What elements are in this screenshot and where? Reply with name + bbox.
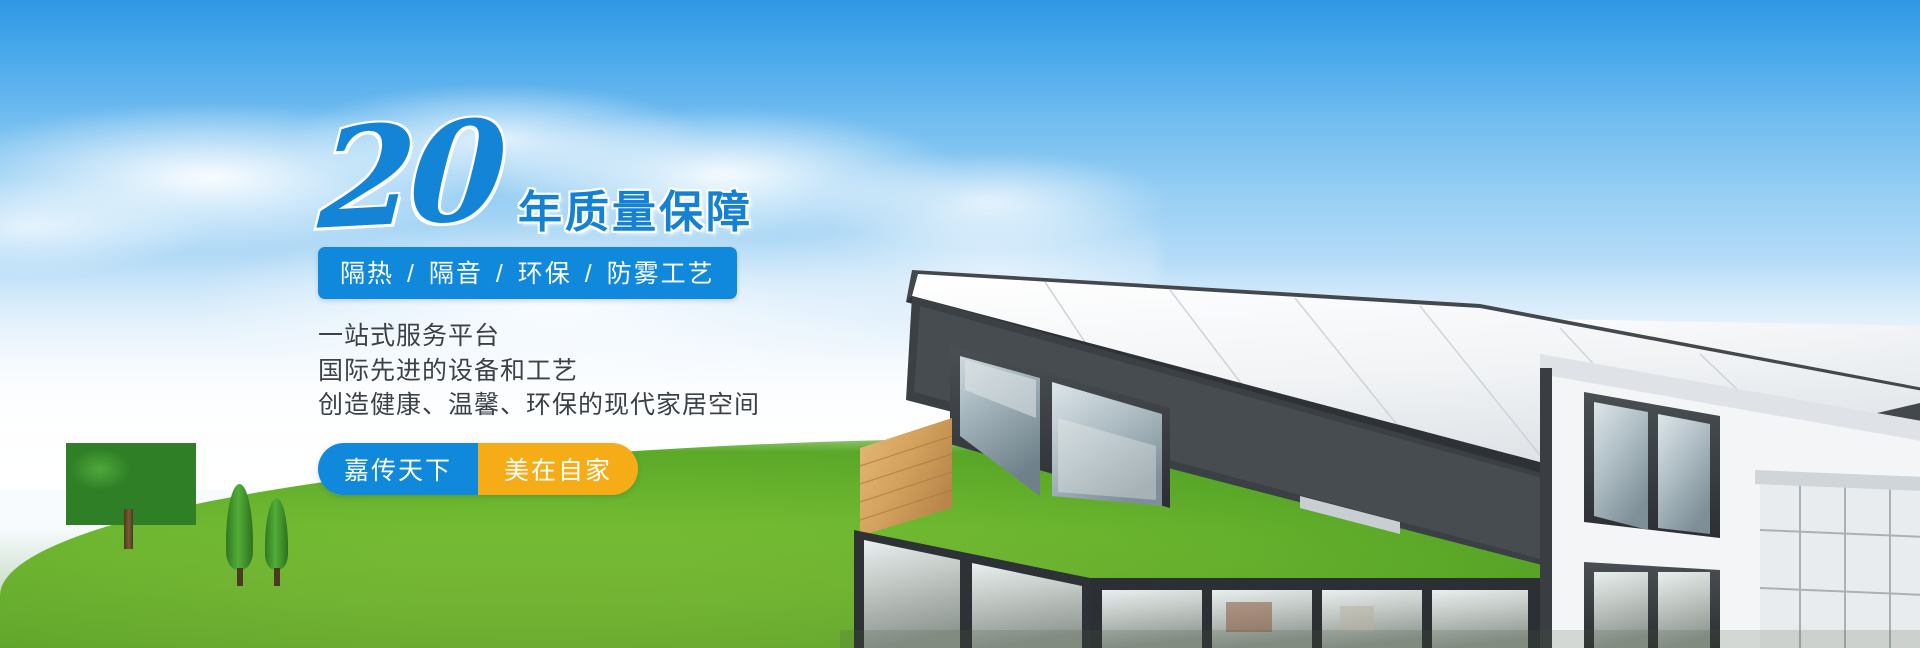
- cypress-foliage: [265, 498, 288, 570]
- slogan-pill[interactable]: 嘉传天下 美在自家: [318, 443, 638, 495]
- feature-separator: /: [492, 260, 509, 288]
- feature-item-3: 防雾工艺: [607, 260, 715, 288]
- headline-subtitle: 年质量保障: [518, 176, 753, 240]
- promo-banner: 20 年质量保障 隔热 / 隔音 / 环保 / 防雾工艺 一站式服务平台 国际先…: [0, 0, 1920, 648]
- banner-content: 20 年质量保障 隔热 / 隔音 / 环保 / 防雾工艺 一站式服务平台 国际先…: [318, 110, 938, 495]
- slogan-left[interactable]: 嘉传天下: [318, 443, 478, 495]
- description-block: 一站式服务平台 国际先进的设备和工艺 创造健康、温馨、环保的现代家居空间: [318, 319, 938, 423]
- cypress-tree-icon: [265, 498, 288, 570]
- cypress-trunk: [274, 568, 280, 586]
- tree-icon: [66, 443, 196, 553]
- description-line-2: 国际先进的设备和工艺: [318, 354, 938, 389]
- tree-trunk: [124, 509, 133, 549]
- feature-item-0: 隔热: [340, 260, 394, 288]
- feature-item-1: 隔音: [429, 260, 483, 288]
- slogan-right[interactable]: 美在自家: [478, 443, 638, 495]
- feature-separator: /: [581, 260, 598, 288]
- feature-separator: /: [403, 260, 420, 288]
- cypress-tree-icon: [226, 484, 253, 570]
- feature-item-2: 环保: [518, 260, 572, 288]
- description-line-3: 创造健康、温馨、环保的现代家居空间: [318, 388, 938, 423]
- sunroom-house-photo: [840, 178, 1920, 648]
- cypress-trunk: [237, 568, 243, 586]
- cypress-foliage: [226, 484, 253, 570]
- years-number: 20: [316, 101, 504, 248]
- headline-row: 20 年质量保障: [318, 110, 938, 235]
- description-line-1: 一站式服务平台: [318, 319, 938, 354]
